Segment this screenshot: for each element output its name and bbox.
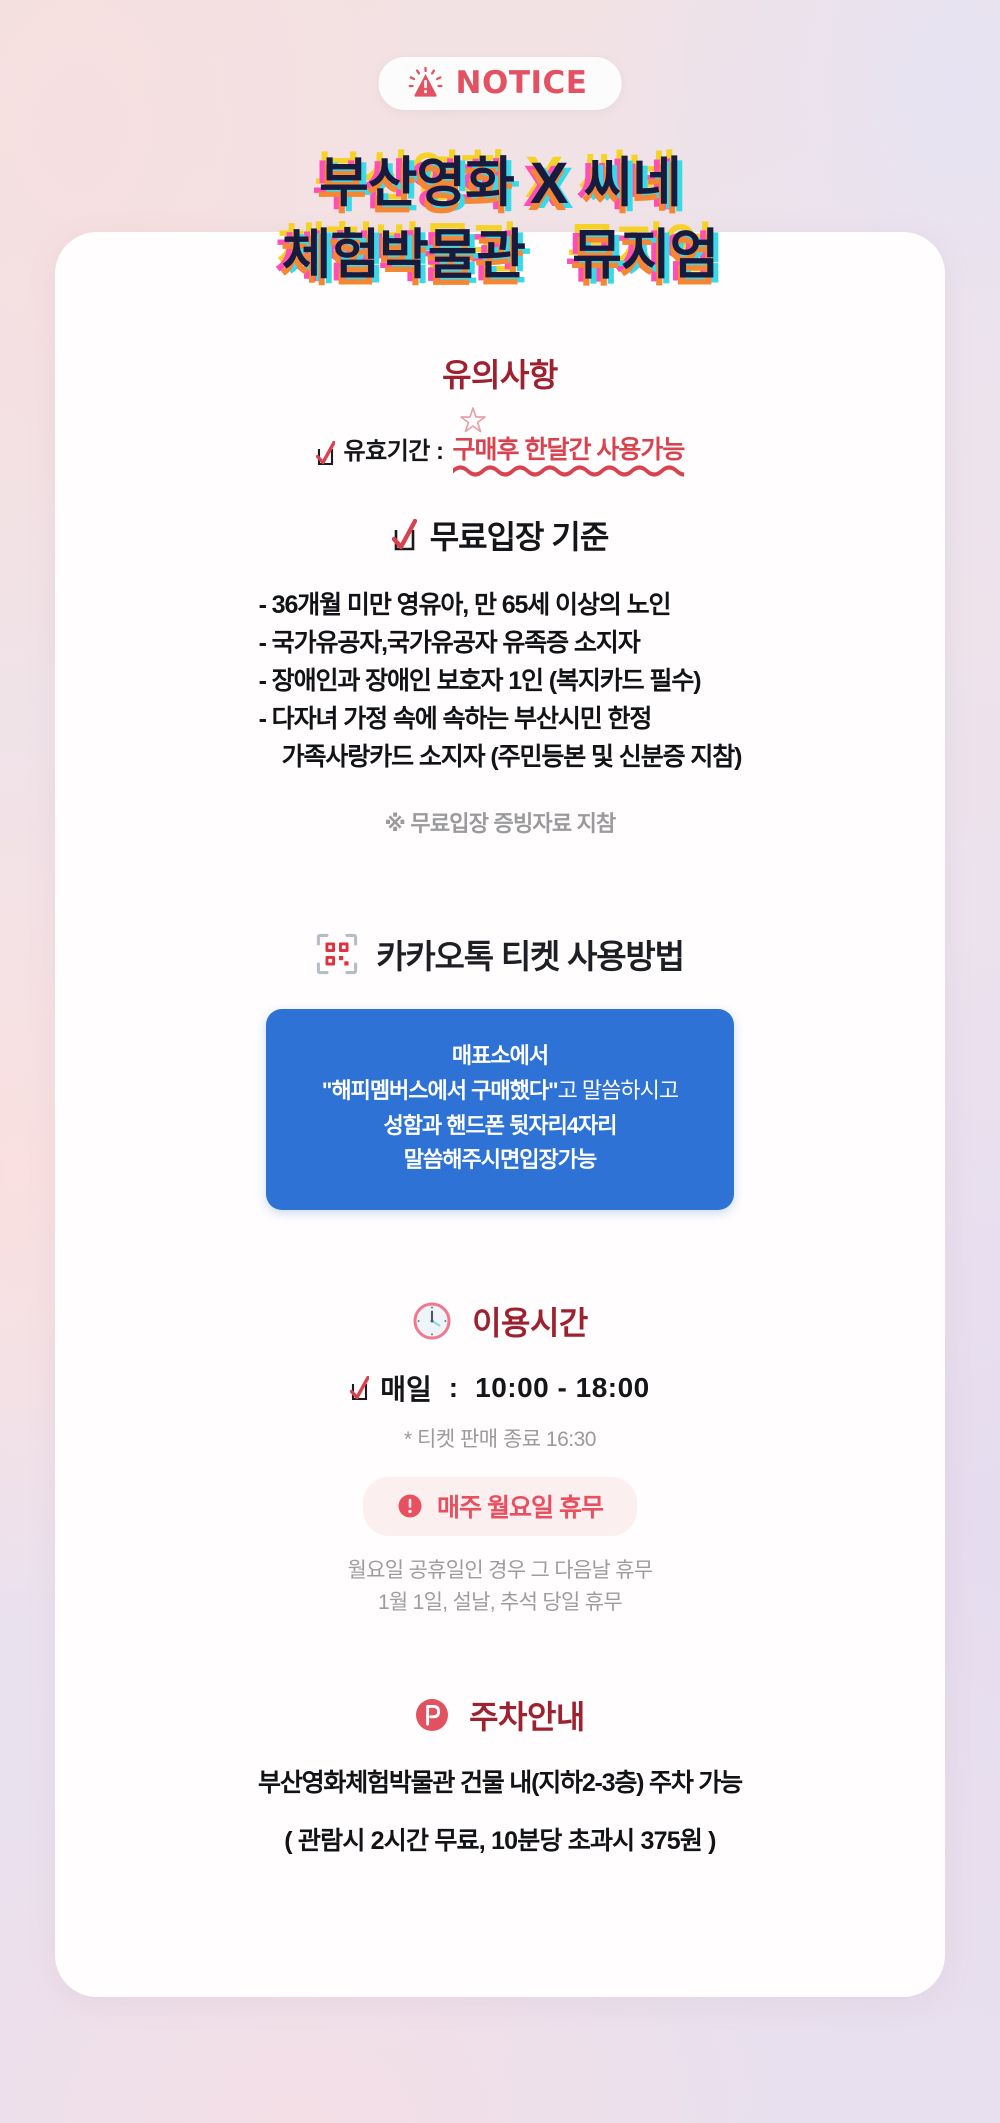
kakao-line-1: 매표소에서 [284,1039,716,1074]
check-mark-icon [392,519,417,552]
hours-sub-note: * 티켓 판매 종료 16:30 [55,1423,945,1453]
notice-badge: NOTICE [379,57,622,110]
kakao-line-3: 성함과 핸드폰 뒷자리4자리 [284,1109,716,1144]
list-item: - 장애인과 장애인 보호자 1인 (복지카드 필수) [259,667,701,695]
parking-heading: 주차안내 [469,1692,585,1738]
title-line2-a: 체험박물관 [282,225,525,285]
notice-badge-label: NOTICE [456,68,588,99]
list-item: - 다자녀 가정 속에 속하는 부산시민 한정 [259,705,652,733]
hours-main-row: 매일 : 10:00 - 18:00 [55,1368,945,1408]
title-line1-a: 부산영화 [319,153,514,213]
kakao-heading: 카카오톡 티켓 사용방법 [376,930,684,978]
closed-note-1: 월요일 공휴일인 경우 그 다음날 휴무 [348,1559,653,1582]
kakao-line-2-quote: "해피멤버스에서 구매했다" [322,1078,558,1103]
kakao-line-4: 말씀해주시면입장가능 [284,1143,716,1178]
parking-p-icon [415,1698,449,1732]
hours-range: 10:00 - 18:00 [475,1372,650,1404]
section-parking: 주차안내 부산영화체험박물관 건물 내(지하2-3층) 주차 가능 ( 관람시 … [55,1692,945,1857]
parking-line-1: 부산영화체험박물관 건물 내(지하2-3층) 주차 가능 [55,1763,945,1799]
hero-title-glitch: 부산영화X씨네 체험박물관 뮤지엄 부산영화X씨네 체험박물관 뮤지엄 부산영화… [282,148,719,292]
check-mark-icon [350,1376,369,1401]
hours-day-label: 매일 [380,1368,432,1408]
free-admission-note: ※ 무료입장 증빙자료 지참 [55,806,945,838]
closed-day-label: 매주 월요일 휴무 [437,1488,603,1524]
list-item: - 국가유공자,국가유공자 유족증 소지자 [259,629,640,657]
validity-row: 유효기간 : 구매후 한달간 사용가능 [55,430,945,466]
kakao-line-2: "해피멤버스에서 구매했다"고 말씀하시고 [284,1074,716,1109]
kakao-instruction-box: 매표소에서 "해피멤버스에서 구매했다"고 말씀하시고 성함과 핸드폰 뒷자리4… [266,1009,734,1210]
star-icon [459,406,487,434]
closed-note-2: 1월 1일, 설날, 추석 당일 휴무 [378,1591,622,1614]
hours-heading: 이용시간 [472,1298,588,1344]
exclamation-circle-icon [397,1493,423,1519]
hours-head: 이용시간 [55,1298,945,1344]
check-mark-icon [316,441,335,466]
list-item: 가족사랑카드 소지자 (주민등본 및 신분증 지참) [259,738,742,776]
validity-value-wrap: 구매후 한달간 사용가능 [453,430,685,466]
squiggly-underline-icon [453,464,685,477]
kakao-line-2-rest: 고 말씀하시고 [558,1078,679,1103]
parking-line-2: ( 관람시 2시간 무료, 10분당 초과시 375원 ) [55,1821,945,1857]
closed-day-notes: 월요일 공휴일인 경우 그 다음날 휴무 1월 1일, 설날, 추석 당일 휴무 [55,1555,945,1618]
kakao-head: 카카오톡 티켓 사용방법 [55,930,945,978]
hero-title: 부산영화X씨네 체험박물관 뮤지엄 부산영화X씨네 체험박물관 뮤지엄 부산영화… [0,148,1000,292]
section-kakao: 카카오톡 티켓 사용방법 매표소에서 "해피멤버스에서 구매했다"고 말씀하시고… [55,930,945,1210]
notice-heading: 유의사항 [55,350,945,396]
free-admission-list: - 36개월 미만 영유아, 만 65세 이상의 노인 - 국가유공자,국가유공… [259,586,742,776]
hours-separator: : [443,1372,464,1404]
parking-head: 주차안내 [55,1692,945,1738]
title-x-mark: X [514,151,584,216]
warning-triangle-icon [409,67,443,99]
section-free-admission: 무료입장 기준 - 36개월 미만 영유아, 만 65세 이상의 노인 - 국가… [55,512,945,838]
validity-value: 구매후 한달간 사용가능 [453,436,685,464]
clock-icon [412,1301,452,1341]
validity-label: 유효기간 : [344,431,444,466]
list-item: - 36개월 미만 영유아, 만 65세 이상의 노인 [259,591,671,619]
title-line1-b: 씨네 [584,153,681,213]
free-admission-head: 무료입장 기준 [55,512,945,558]
section-hours: 이용시간 매일 : 10:00 - 18:00 * 티켓 판매 종료 16:30… [55,1298,945,1618]
content-body: 유의사항 유효기간 : 구매후 한달간 사용가능 [55,232,945,1857]
free-admission-heading: 무료입장 기준 [430,512,609,558]
qr-scan-icon [316,933,358,975]
title-layer-main: 부산영화X씨네 체험박물관 뮤지엄 [282,153,719,285]
closed-day-badge: 매주 월요일 휴무 [363,1477,637,1536]
title-line2-b: 뮤지엄 [572,225,718,285]
